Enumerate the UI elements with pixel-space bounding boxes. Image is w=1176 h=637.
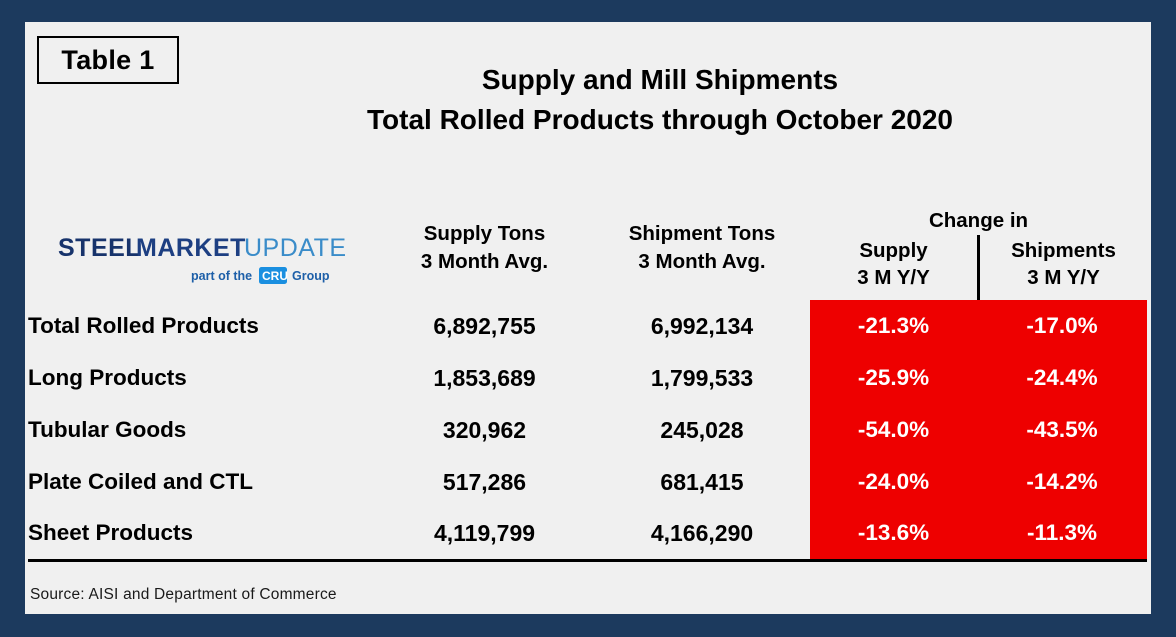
header-change-in-label: Change in — [810, 196, 1147, 235]
table-row: Total Rolled Products 6,892,755 6,992,13… — [28, 300, 1147, 352]
cell-shipment-tons: 245,028 — [594, 404, 810, 456]
row-label: Sheet Products — [28, 508, 375, 560]
title-line-1: Supply and Mill Shipments — [195, 60, 1125, 100]
svg-text:UPDATE: UPDATE — [244, 234, 347, 262]
logo-cell: STEEL MARKET UPDATE part of the CRU Grou… — [28, 196, 375, 300]
source-note: Source: AISI and Department of Commerce — [30, 586, 337, 604]
table-row: Long Products 1,853,689 1,799,533 -25.9%… — [28, 352, 1147, 404]
header-change-shipments-line2: 3 M Y/Y — [980, 264, 1147, 291]
table-body: Total Rolled Products 6,892,755 6,992,13… — [28, 300, 1147, 560]
header-supply-tons-line2: 3 Month Avg. — [375, 248, 594, 276]
table-row: Tubular Goods 320,962 245,028 -54.0% -43… — [28, 404, 1147, 456]
cell-change-supply: -21.3% — [810, 300, 977, 352]
cell-change-supply: -54.0% — [810, 404, 977, 456]
header-change-shipments-line1: Shipments — [980, 237, 1147, 264]
cell-change-supply: -25.9% — [810, 352, 977, 404]
cell-supply-tons: 6,892,755 — [375, 300, 594, 352]
svg-text:CRU: CRU — [262, 269, 288, 283]
svg-text:Group: Group — [292, 269, 330, 283]
header-change-supply: Supply 3 M Y/Y — [810, 235, 980, 300]
svg-text:MARKET: MARKET — [136, 234, 246, 262]
row-label: Tubular Goods — [28, 404, 375, 456]
slide-frame: Table 1 Supply and Mill Shipments Total … — [0, 0, 1176, 637]
cell-change-supply: -24.0% — [810, 456, 977, 508]
row-label: Plate Coiled and CTL — [28, 456, 375, 508]
page-title: Supply and Mill Shipments Total Rolled P… — [195, 60, 1125, 140]
header-change-shipments: Shipments 3 M Y/Y — [980, 235, 1147, 300]
header-shipment-tons: Shipment Tons 3 Month Avg. — [594, 196, 810, 300]
title-line-2: Total Rolled Products through October 20… — [195, 100, 1125, 140]
header-supply-tons: Supply Tons 3 Month Avg. — [375, 196, 594, 300]
cell-shipment-tons: 4,166,290 — [594, 508, 810, 560]
title-area: Table 1 Supply and Mill Shipments Total … — [25, 22, 1151, 196]
header-shipment-tons-line2: 3 Month Avg. — [594, 248, 810, 276]
table-row: Sheet Products 4,119,799 4,166,290 -13.6… — [28, 508, 1147, 560]
data-table: STEEL MARKET UPDATE part of the CRU Grou… — [28, 196, 1147, 562]
cell-shipment-tons: 1,799,533 — [594, 352, 810, 404]
cell-supply-tons: 320,962 — [375, 404, 594, 456]
cell-change-shipments: -14.2% — [977, 456, 1147, 508]
header-supply-tons-line1: Supply Tons — [375, 220, 594, 248]
svg-text:part of the: part of the — [191, 269, 252, 283]
row-label: Total Rolled Products — [28, 300, 375, 352]
cell-supply-tons: 517,286 — [375, 456, 594, 508]
svg-text:STEEL: STEEL — [58, 234, 141, 262]
steel-market-update-logo: STEEL MARKET UPDATE part of the CRU Grou… — [54, 200, 354, 296]
header-change-group: Change in Supply 3 M Y/Y Shipments 3 M Y… — [810, 196, 1147, 300]
cell-change-shipments: -17.0% — [977, 300, 1147, 352]
header-shipment-tons-line1: Shipment Tons — [594, 220, 810, 248]
cell-change-shipments: -11.3% — [977, 508, 1147, 560]
cell-change-shipments: -24.4% — [977, 352, 1147, 404]
cell-shipment-tons: 681,415 — [594, 456, 810, 508]
table-number-badge: Table 1 — [37, 36, 179, 84]
table-header-row: STEEL MARKET UPDATE part of the CRU Grou… — [28, 196, 1147, 300]
row-label: Long Products — [28, 352, 375, 404]
header-change-supply-line2: 3 M Y/Y — [810, 264, 977, 291]
cell-change-shipments: -43.5% — [977, 404, 1147, 456]
cell-supply-tons: 1,853,689 — [375, 352, 594, 404]
cell-shipment-tons: 6,992,134 — [594, 300, 810, 352]
slide-content-panel: Table 1 Supply and Mill Shipments Total … — [25, 22, 1151, 614]
cell-supply-tons: 4,119,799 — [375, 508, 594, 560]
cell-change-supply: -13.6% — [810, 508, 977, 560]
header-change-supply-line1: Supply — [810, 237, 977, 264]
table-row: Plate Coiled and CTL 517,286 681,415 -24… — [28, 456, 1147, 508]
